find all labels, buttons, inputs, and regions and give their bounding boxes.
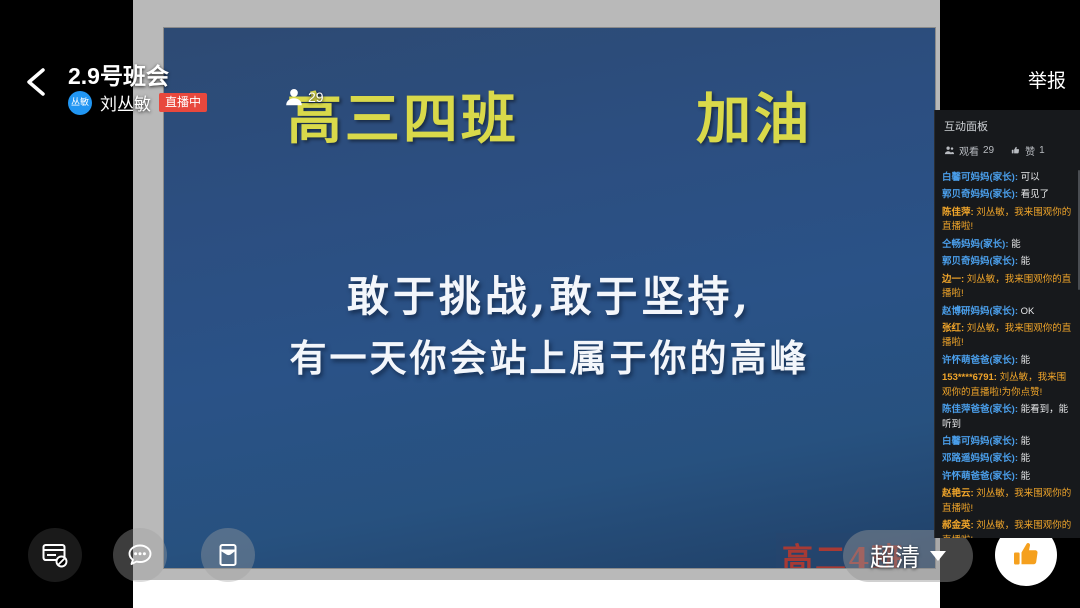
chat-message: 仝畅妈妈(家长): 能: [942, 238, 1074, 252]
chat-message-author: 153****6791:: [942, 372, 997, 383]
likes-label: 赞: [1025, 143, 1035, 158]
chat-message: 郭贝奇妈妈(家长): 看见了: [942, 188, 1074, 202]
chat-message-author: 郝金英:: [942, 520, 974, 531]
chevron-left-icon: [18, 62, 58, 102]
chat-message-author: 仝畅妈妈(家长):: [942, 239, 1009, 250]
panel-title: 互动面板: [935, 110, 1080, 136]
chat-message-list[interactable]: 白馨可妈妈(家长): 可以郭贝奇妈妈(家长): 看见了陈佳萍: 刘丛敏，我来围观…: [935, 167, 1080, 538]
chat-message-author: 张红:: [942, 323, 964, 334]
chat-message-author: 赵艳云:: [942, 488, 974, 499]
chat-message-text: OK: [1018, 306, 1034, 317]
chat-message-author: 郭贝奇妈妈(家长):: [942, 256, 1018, 267]
bottom-left-letterbox: [0, 580, 133, 608]
person-icon: [283, 86, 305, 108]
chat-message-text: 能: [1018, 256, 1030, 267]
chat-message: 153****6791: 刘丛敏，我来围观你的直播啦!为你点赞!: [942, 371, 1074, 400]
panel-stats: 观看 29 赞 1: [935, 136, 1080, 167]
chat-message: 郝金英: 刘丛敏，我来围观你的直播啦!: [942, 519, 1074, 538]
comment-button[interactable]: [113, 528, 167, 582]
presentation-slide: 高三四班 加油 敢于挑战,敢于坚持, 有一天你会站上属于你的高峰 高二4班: [164, 28, 935, 568]
likes-stat: 赞 1: [1010, 143, 1045, 158]
chat-message-text: 能: [1018, 355, 1030, 366]
host-info-row: 丛敏 刘丛敏 直播中: [68, 90, 207, 115]
viewers-count: 29: [983, 145, 994, 156]
chat-message-text: 可以: [1018, 172, 1040, 183]
chat-message-author: 边一:: [942, 274, 964, 285]
chat-message: 白馨可妈妈(家长): 能: [942, 435, 1074, 449]
people-icon: [944, 145, 955, 156]
chat-message-author: 许怀萌爸爸(家长):: [942, 355, 1018, 366]
slide-line-2: 有一天你会站上属于你的高峰: [164, 328, 935, 382]
disable-screen-share-button[interactable]: [28, 528, 82, 582]
gift-button[interactable]: [201, 528, 255, 582]
screen-off-icon: [40, 540, 70, 570]
slide-title: 高三四班 加油: [164, 74, 935, 154]
chat-message-text: 能: [1018, 471, 1030, 482]
viewers-stat: 观看 29: [944, 143, 994, 158]
interactive-panel[interactable]: 互动面板 观看 29 赞 1 白馨可妈妈(家长): [934, 110, 1080, 538]
status-badge: 直播中: [159, 93, 207, 113]
chat-message: 陈佳萍爸爸(家长): 能看到，能听到: [942, 403, 1074, 432]
chat-message-author: 赵博研妈妈(家长):: [942, 306, 1018, 317]
chat-message: 郭贝奇妈妈(家长): 能: [942, 255, 1074, 269]
chat-message-text: 能: [1018, 453, 1030, 464]
chat-message-author: 陈佳萍:: [942, 207, 974, 218]
host-name: 刘丛敏: [100, 90, 151, 115]
viewer-count: 29: [308, 89, 324, 105]
likes-count: 1: [1039, 145, 1045, 156]
thumbs-up-icon: [1008, 537, 1044, 573]
chat-message-author: 邓路遥妈妈(家长):: [942, 453, 1018, 464]
chat-message: 张红: 刘丛敏，我来围观你的直播啦!: [942, 322, 1074, 351]
chat-bubble-icon: [125, 540, 155, 570]
chat-message-author: 许怀萌爸爸(家长):: [942, 471, 1018, 482]
chevron-down-icon: [930, 551, 946, 561]
chat-message: 赵博研妈妈(家长): OK: [942, 305, 1074, 319]
chat-message: 陈佳萍: 刘丛敏，我来围观你的直播啦!: [942, 206, 1074, 235]
quality-label: 超清: [870, 538, 920, 574]
page-title: 2.9号班会: [68, 57, 169, 91]
live-stream-screen: 高三四班 加油 敢于挑战,敢于坚持, 有一天你会站上属于你的高峰 高二4班 2.…: [0, 0, 1080, 608]
viewer-count-overlay: 29: [283, 86, 324, 108]
chat-message-author: 白馨可妈妈(家长):: [942, 172, 1018, 183]
chat-message: 许怀萌爸爸(家长): 能: [942, 470, 1074, 484]
back-button[interactable]: [18, 62, 58, 102]
chat-message-author: 白馨可妈妈(家长):: [942, 436, 1018, 447]
chat-message: 邓路遥妈妈(家长): 能: [942, 452, 1074, 466]
chat-message: 许怀萌爸爸(家长): 能: [942, 354, 1074, 368]
thumbs-up-icon: [1010, 145, 1021, 156]
chat-message: 赵艳云: 刘丛敏，我来围观你的直播啦!: [942, 487, 1074, 516]
chat-message-text: 能: [1009, 239, 1021, 250]
chat-message-author: 郭贝奇妈妈(家长):: [942, 189, 1018, 200]
gift-box-icon: [213, 540, 243, 570]
slide-line-1: 敢于挑战,敢于坚持,: [164, 263, 935, 324]
chat-message: 白馨可妈妈(家长): 可以: [942, 171, 1074, 185]
chat-message-text: 看见了: [1018, 189, 1049, 200]
chat-message: 边一: 刘丛敏，我来围观你的直播啦!: [942, 273, 1074, 302]
viewers-label: 观看: [959, 143, 979, 158]
report-button[interactable]: 举报: [1028, 66, 1066, 93]
chat-message-author: 陈佳萍爸爸(家长):: [942, 404, 1018, 415]
avatar[interactable]: 丛敏: [68, 91, 92, 115]
chat-message-text: 能: [1018, 436, 1030, 447]
